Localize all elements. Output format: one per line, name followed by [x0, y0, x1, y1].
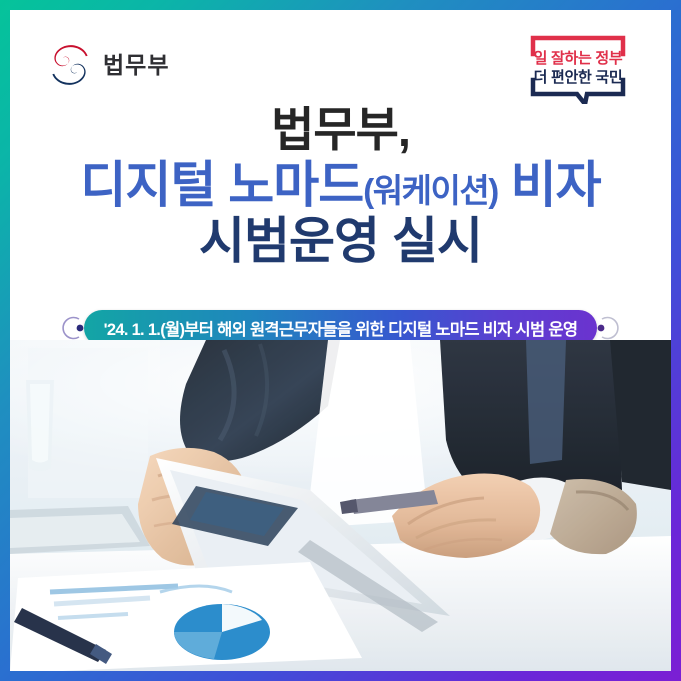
headline-line-2-prefix: 디지털 노마드 [80, 157, 363, 213]
headline-line-2: 디지털 노마드(워케이션) 비자 [10, 158, 671, 212]
ministry-name-label: 법무부 [103, 54, 169, 77]
headline-block: 법무부, 디지털 노마드(워케이션) 비자 시범운영 실시 [10, 105, 671, 268]
left-arc-decoration-icon [58, 315, 84, 341]
headline-line-2-parenthetical: (워케이션) [363, 172, 497, 209]
hero-photo: 두 명의 비즈니스 인물이 태블릿과 펜을 들고 차트 문서가 놓인 책상에서 … [10, 340, 671, 671]
headline-line-3: 시범운영 실시 [10, 214, 671, 268]
slogan-line-1: 일 잘하는 정부 [515, 51, 641, 66]
ministry-logo-lockup: 법무부 [48, 43, 169, 87]
poster-header: 법무부 일 잘하는 정부 더 편안한 국민 법무부, 디지털 노마드(워케이션)… [10, 10, 671, 340]
slogan-line-2: 더 편안한 국민 [515, 70, 641, 85]
korea-government-taegeuk-logo-icon [48, 43, 92, 87]
headline-line-1: 법무부, [10, 105, 671, 156]
card-news-poster: 법무부 일 잘하는 정부 더 편안한 국민 법무부, 디지털 노마드(워케이션)… [0, 0, 681, 681]
poster-inner: 법무부 일 잘하는 정부 더 편안한 국민 법무부, 디지털 노마드(워케이션)… [10, 10, 671, 671]
government-slogan-badge: 일 잘하는 정부 더 편안한 국민 [515, 32, 641, 104]
headline-line-2-suffix: 비자 [498, 157, 601, 213]
right-arc-decoration-icon [597, 315, 623, 341]
